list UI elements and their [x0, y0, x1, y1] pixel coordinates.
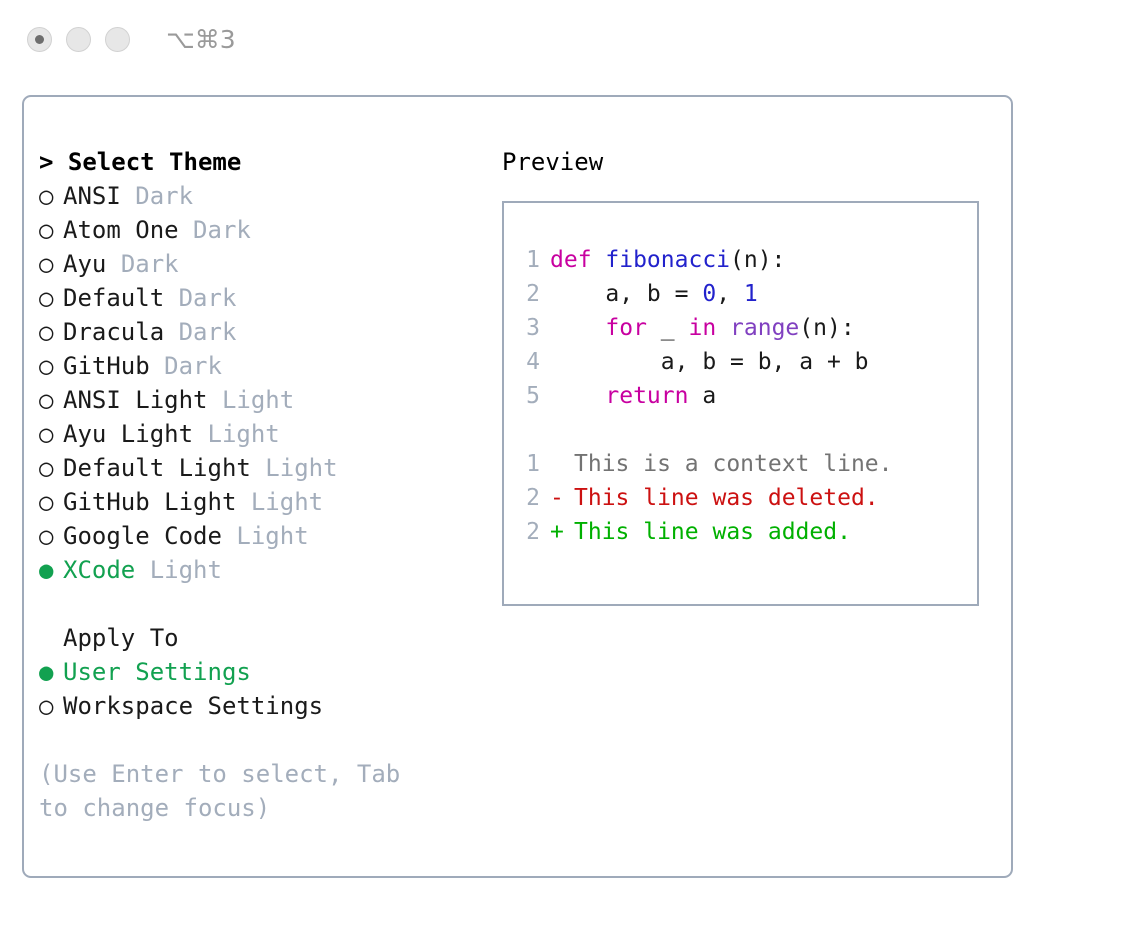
theme-list-item[interactable]: ○Atom One Dark — [39, 213, 489, 247]
code-token: def — [550, 247, 605, 273]
theme-list-item[interactable]: ○Ayu Light Light — [39, 417, 489, 451]
window-controls — [27, 27, 130, 52]
theme-name: Ayu — [63, 250, 106, 278]
theme-name: ANSI Light — [63, 386, 208, 414]
theme-variant: Dark — [135, 182, 193, 210]
select-theme-heading: > Select Theme — [39, 145, 489, 179]
theme-variant: Dark — [179, 318, 237, 346]
code-token — [550, 383, 605, 409]
radio-unselected-icon: ○ — [39, 213, 63, 247]
window-dot-2[interactable] — [66, 27, 91, 52]
code-token: in — [688, 315, 716, 341]
preview-box: 1def fibonacci(n):2 a, b = 0, 13 for _ i… — [502, 201, 979, 606]
line-number: 5 — [516, 379, 540, 413]
apply-to-label: Workspace Settings — [63, 692, 323, 720]
code-line: 2 a, b = 0, 1 — [516, 277, 971, 311]
theme-list-item[interactable]: ○GitHub Light Light — [39, 485, 489, 519]
code-token: for — [605, 315, 647, 341]
code-token: 0 — [702, 281, 716, 307]
code-line: 5 return a — [516, 379, 971, 413]
radio-unselected-icon: ○ — [39, 383, 63, 417]
diff-line: 1 This is a context line. — [516, 447, 971, 481]
code-token: return — [605, 383, 688, 409]
radio-unselected-icon: ○ — [39, 485, 63, 519]
theme-list-item[interactable]: ○Default Light Light — [39, 451, 489, 485]
theme-variant: Dark — [193, 216, 251, 244]
radio-unselected-icon: ○ — [39, 417, 63, 451]
theme-name: Dracula — [63, 318, 164, 346]
preview-heading: Preview — [502, 145, 1002, 179]
theme-name: XCode — [63, 556, 135, 584]
window-dot-3[interactable] — [105, 27, 130, 52]
theme-variant: Light — [265, 454, 337, 482]
radio-unselected-icon: ○ — [39, 451, 63, 485]
diff-text: This is a context line. — [574, 451, 893, 477]
theme-list-item[interactable]: ○Google Code Light — [39, 519, 489, 553]
keyboard-hint: (Use Enter to select, Tab to change focu… — [39, 757, 439, 825]
theme-list-item[interactable]: ○ANSI Dark — [39, 179, 489, 213]
code-preview: 1def fibonacci(n):2 a, b = 0, 13 for _ i… — [516, 243, 971, 549]
theme-name: GitHub Light — [63, 488, 236, 516]
radio-unselected-icon: ○ — [39, 179, 63, 213]
line-number: 1 — [516, 447, 540, 481]
radio-unselected-icon: ○ — [39, 519, 63, 553]
theme-variant: Dark — [164, 352, 222, 380]
theme-list-item[interactable]: ○ANSI Light Light — [39, 383, 489, 417]
theme-list-item[interactable]: ○GitHub Dark — [39, 349, 489, 383]
theme-list-column: > Select Theme ○ANSI Dark○Atom One Dark○… — [39, 145, 489, 825]
radio-unselected-icon: ○ — [39, 349, 63, 383]
apply-to-option[interactable]: ●User Settings — [39, 655, 489, 689]
code-line: 4 a, b = b, a + b — [516, 345, 971, 379]
window-dot-active[interactable] — [27, 27, 52, 52]
code-token: range — [730, 315, 799, 341]
theme-name: Ayu Light — [63, 420, 193, 448]
line-number: 3 — [516, 311, 540, 345]
diff-line: 2+This line was added. — [516, 515, 971, 549]
apply-to-heading: Apply To — [39, 621, 489, 655]
theme-name: Default — [63, 284, 164, 312]
code-token: a — [688, 383, 716, 409]
theme-list-item[interactable]: ○Default Dark — [39, 281, 489, 315]
theme-variant: Dark — [121, 250, 179, 278]
theme-name: Atom One — [63, 216, 179, 244]
theme-variant: Light — [251, 488, 323, 516]
code-token: fibonacci — [605, 247, 730, 273]
diff-marker: + — [550, 515, 574, 549]
line-number: 2 — [516, 277, 540, 311]
diff-sample: 1 This is a context line.2-This line was… — [516, 447, 971, 549]
code-token: _ — [647, 315, 689, 341]
window-titlebar: ⌥⌘3 — [0, 0, 1140, 78]
code-token: a, b = — [550, 281, 702, 307]
apply-to-option[interactable]: ○Workspace Settings — [39, 689, 489, 723]
theme-name: GitHub — [63, 352, 150, 380]
keyboard-shortcut-label: ⌥⌘3 — [166, 25, 236, 54]
diff-marker: - — [550, 481, 574, 515]
apply-to-list[interactable]: ●User Settings○Workspace Settings — [39, 655, 489, 723]
theme-list-item[interactable]: ●XCode Light — [39, 553, 489, 587]
code-token: 1 — [744, 281, 758, 307]
radio-selected-icon: ● — [39, 655, 63, 689]
theme-variant: Light — [222, 386, 294, 414]
theme-variant: Light — [208, 420, 280, 448]
code-token: a, b = b, a + b — [550, 349, 869, 375]
code-token — [716, 315, 730, 341]
theme-list[interactable]: ○ANSI Dark○Atom One Dark○Ayu Dark○Defaul… — [39, 179, 489, 587]
radio-unselected-icon: ○ — [39, 281, 63, 315]
code-token: (n): — [730, 247, 785, 273]
theme-picker-panel: > Select Theme ○ANSI Dark○Atom One Dark○… — [22, 95, 1013, 878]
line-number: 4 — [516, 345, 540, 379]
code-line: 3 for _ in range(n): — [516, 311, 971, 345]
theme-name: Default Light — [63, 454, 251, 482]
radio-unselected-icon: ○ — [39, 315, 63, 349]
theme-list-item[interactable]: ○Ayu Dark — [39, 247, 489, 281]
radio-unselected-icon: ○ — [39, 247, 63, 281]
code-diff-separator — [516, 413, 971, 447]
window-dot-inner — [35, 35, 44, 44]
theme-variant: Light — [236, 522, 308, 550]
spacer — [39, 587, 489, 621]
theme-name: Google Code — [63, 522, 222, 550]
diff-marker — [550, 447, 574, 481]
line-number: 2 — [516, 515, 540, 549]
diff-text: This line was deleted. — [574, 485, 879, 511]
theme-name: ANSI — [63, 182, 121, 210]
theme-variant: Dark — [179, 284, 237, 312]
line-number: 1 — [516, 243, 540, 277]
radio-selected-icon: ● — [39, 553, 63, 587]
preview-column: Preview 1def fibonacci(n):2 a, b = 0, 13… — [502, 145, 1002, 606]
theme-variant: Light — [150, 556, 222, 584]
radio-unselected-icon: ○ — [39, 689, 63, 723]
code-token: , — [716, 281, 744, 307]
code-token — [550, 315, 605, 341]
theme-list-item[interactable]: ○Dracula Dark — [39, 315, 489, 349]
diff-line: 2-This line was deleted. — [516, 481, 971, 515]
diff-text: This line was added. — [574, 519, 851, 545]
code-line: 1def fibonacci(n): — [516, 243, 971, 277]
line-number: 2 — [516, 481, 540, 515]
apply-to-label: User Settings — [63, 658, 251, 686]
code-sample: 1def fibonacci(n):2 a, b = 0, 13 for _ i… — [516, 243, 971, 413]
code-token: (n): — [799, 315, 854, 341]
